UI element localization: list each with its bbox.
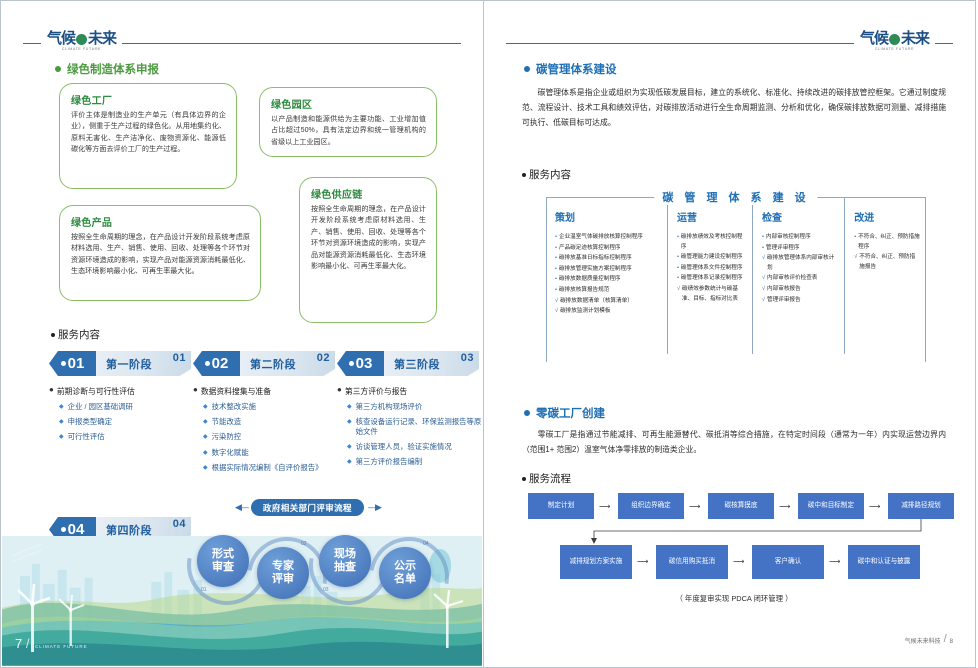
flow-node: 减排规划方案实施 xyxy=(560,545,632,579)
brochure-spread: 气候 未来 CLIMATE FUTURE 绿色制造体系申报 绿色工厂 评价主体是… xyxy=(0,0,978,668)
card-body: 按照全生命周期的理念，在产品设计开发阶段系统考虑原材料选用、生产、销售、使用、回… xyxy=(71,232,250,278)
flow-connector xyxy=(522,517,946,545)
bullet-icon xyxy=(524,66,530,72)
section-title-text: 零碳工厂创建 xyxy=(536,405,605,421)
marker-icon: • xyxy=(555,286,557,296)
marker-icon: √ xyxy=(555,297,558,307)
phase-label: 第三阶段 xyxy=(394,356,440,372)
diamond-icon: ◆ xyxy=(203,448,208,458)
slash-icon: / xyxy=(944,633,947,645)
diamond-icon: ◆ xyxy=(203,432,208,442)
diamond-icon: ◆ xyxy=(347,442,352,452)
marker-icon: • xyxy=(677,253,679,263)
left-page: 气候 未来 CLIMATE FUTURE 绿色制造体系申报 绿色工厂 评价主体是… xyxy=(0,0,484,668)
phase-lead-text: 第三方评价与报告 xyxy=(345,386,407,397)
list-item: ◆技术整改实施 xyxy=(203,402,335,412)
flow-node: 碳中和目标制定 xyxy=(798,493,864,519)
phase-label-wrap: 第二阶段 02 xyxy=(240,351,335,376)
flow-node: 减排路径规划 xyxy=(888,493,954,519)
phase-index: 03 xyxy=(461,352,474,364)
brand-name-part1: 气候 xyxy=(47,31,75,46)
list-item: ◆第三方机构现场评价 xyxy=(347,402,483,412)
marker-icon: • xyxy=(762,244,764,254)
flow-node: 碳核算摸底 xyxy=(708,493,774,519)
review-step-circle: 现场 抽查 xyxy=(319,535,371,587)
service-content-label: 服务内容 xyxy=(58,327,100,342)
diamond-icon: ◆ xyxy=(347,457,352,467)
marker-icon: • xyxy=(555,275,557,285)
marker-icon: • xyxy=(762,233,764,243)
carbon-system-table: 碳 管 理 体 系 建 设 策划 •企业温室气体碳排放核算控制程序 •产品碳足迹… xyxy=(546,189,926,354)
list-item: •管理评审程序 xyxy=(762,244,838,254)
diamond-icon: ◆ xyxy=(203,463,208,473)
brand-subtitle: CLIMATE FUTURE xyxy=(860,47,929,51)
phase-card-03: 03 第三阶段 03 ●第三方评价与报告 ◆第三方机构现场评价 ◆核查设备运行记… xyxy=(337,351,483,473)
card-title: 绿色园区 xyxy=(271,96,426,111)
phase-label-wrap: 第三阶段 03 xyxy=(384,351,479,376)
brand-subtitle: CLIMATE FUTURE xyxy=(47,47,116,51)
table-column-planning: 策划 •企业温室气体碳排放核算控制程序 •产品碳足迹核算控制程序 •碳排放基准日… xyxy=(546,197,667,354)
dot-icon xyxy=(522,477,526,481)
marker-icon: • xyxy=(555,233,557,243)
phase-index: 04 xyxy=(173,518,186,530)
phase-lead-text: 数据资料搜集与准备 xyxy=(201,386,271,397)
list-item: •碳管理体系文件控制程序 xyxy=(677,264,746,274)
phase-number-text: 02 xyxy=(212,355,229,372)
card-body: 评价主体是制造业的生产单元（有具体边界的企业），侧重于生产过程的绿色化。从用地集… xyxy=(71,110,226,156)
column-header: 运营 xyxy=(677,209,746,224)
card-title: 绿色供应链 xyxy=(311,186,426,201)
list-item: √不符合、纠正、预防措施报告 xyxy=(854,253,920,272)
list-item: •企业温室气体碳排放核算控制程序 xyxy=(555,233,661,243)
phase-tag: 01 第一阶段 01 xyxy=(49,351,191,376)
list-item: ◆节能改造 xyxy=(203,417,335,427)
dot-icon xyxy=(61,527,66,532)
list-item: √碳绩效参数统计与碳基准、目标、指标对比表 xyxy=(677,285,746,304)
marker-icon: • xyxy=(854,233,856,252)
step-index: 02 xyxy=(301,541,307,547)
dot-icon: ● xyxy=(49,386,54,397)
marker-icon: √ xyxy=(762,285,765,295)
card-body: 按照全生命周期的理念，在产品设计开发阶段系统考虑原材料选用、生产、销售、使用、回… xyxy=(311,204,426,273)
section-title-green-manufacturing: 绿色制造体系申报 xyxy=(55,61,159,77)
list-item: ◆申报类型确定 xyxy=(59,417,191,427)
phase-lead-text: 前期诊断与可行性评估 xyxy=(57,386,135,397)
list-item: ◆访谈管理人员，验证实施情况 xyxy=(347,442,483,452)
list-item: ◆数字化赋能 xyxy=(203,448,335,458)
marker-icon: • xyxy=(677,233,679,252)
list-item: ◆核查设备运行记录、环保监测报告等原始文件 xyxy=(347,417,483,437)
flow-node: 客户确认 xyxy=(752,545,824,579)
card-green-factory: 绿色工厂 评价主体是制造业的生产单元（有具体边界的企业），侧重于生产过程的绿色化… xyxy=(59,83,237,189)
diamond-icon: ◆ xyxy=(59,402,64,412)
footer-brand-right: 气候未来科技 xyxy=(905,636,941,645)
flow-node: 制定计划 xyxy=(528,493,594,519)
list-item: √碳排放管理体系内部审核计划 xyxy=(762,254,838,273)
phase-lead: ●前期诊断与可行性评估 xyxy=(49,386,191,397)
list-item: •碳排放数据质量控制程序 xyxy=(555,275,661,285)
list-item: ◆第三方评价报告编制 xyxy=(347,457,483,467)
diamond-icon: ◆ xyxy=(347,402,352,412)
arrow-icon: ⟶ xyxy=(637,558,648,566)
list-item: ◆污染防控 xyxy=(203,432,335,442)
carbon-management-paragraph: 碳管理体系是指企业或组织为实现低碳发展目标，建立的系统化、标准化、持续改进的碳排… xyxy=(522,85,946,131)
service-content-heading-right: 服务内容 xyxy=(522,167,571,182)
marker-icon: √ xyxy=(677,285,680,304)
brand-name-part2: 未来 xyxy=(901,31,929,46)
list-item: •碳排放基准日标指标控制程序 xyxy=(555,254,661,264)
page-number-left: 7 / xyxy=(15,636,29,651)
dot-icon: ● xyxy=(337,386,342,397)
table-body: 策划 •企业温室气体碳排放核算控制程序 •产品碳足迹核算控制程序 •碳排放基准日… xyxy=(546,197,926,354)
phase-lead: ●第三方评价与报告 xyxy=(337,386,483,397)
phase-tag: 02 第二阶段 02 xyxy=(193,351,335,376)
brand-name-part2: 未来 xyxy=(88,31,116,46)
phase-index: 01 xyxy=(173,352,186,364)
arrow-icon: ⟶ xyxy=(829,558,840,566)
list-item: √碳排放数据清单（核算清单） xyxy=(555,297,661,307)
dot-icon: ● xyxy=(193,386,198,397)
list-item: •碳排放绩效及考核控制程序 xyxy=(677,233,746,252)
marker-icon: √ xyxy=(762,296,765,306)
column-list: •企业温室气体碳排放核算控制程序 •产品碳足迹核算控制程序 •碳排放基准日标指标… xyxy=(555,233,661,317)
phase-number: 01 xyxy=(49,351,96,376)
card-green-park: 绿色园区 以产品制造和能源供给为主要功能、工业增加值占比超过50%，具有法定边界… xyxy=(259,87,437,157)
zero-carbon-paragraph: 零碳工厂是指通过节能减排、可再生能源替代、碳抵消等综合措施，在特定时间段（通常为… xyxy=(522,427,946,457)
globe-icon xyxy=(889,34,900,45)
section-title-text: 绿色制造体系申报 xyxy=(67,61,159,77)
step-index: 01 xyxy=(201,587,207,593)
list-item: •产品碳足迹核算控制程序 xyxy=(555,244,661,254)
phase-item-list: ●前期诊断与可行性评估 ◆企业 / 园区基础调研 ◆申报类型确定 ◆可行性评估 xyxy=(49,386,191,443)
list-item: •碳排放核算报告规范 xyxy=(555,286,661,296)
column-header: 策划 xyxy=(555,209,661,224)
arrow-icon: ⟶ xyxy=(599,503,610,511)
card-green-supply-chain: 绿色供应链 按照全生命周期的理念，在产品设计开发阶段系统考虑原材料选用、生产、销… xyxy=(299,177,437,323)
list-item: •内部审核控制程序 xyxy=(762,233,838,243)
flow-node: 组织边界确定 xyxy=(618,493,684,519)
phase-card-02: 02 第二阶段 02 ●数据资料搜集与准备 ◆技术整改实施 ◆节能改造 ◆污染防… xyxy=(193,351,335,478)
dot-icon xyxy=(349,361,354,366)
arrow-icon: ⟶ xyxy=(733,558,744,566)
card-body: 以产品制造和能源供给为主要功能、工业增加值占比超过50%，具有法定边界和统一管理… xyxy=(271,114,426,148)
phase-tag: 03 第三阶段 03 xyxy=(337,351,479,376)
arrow-icon: ⟶ xyxy=(869,503,880,511)
diamond-icon: ◆ xyxy=(203,402,208,412)
phase-number-text: 01 xyxy=(68,355,85,372)
list-item: ◆可行性评估 xyxy=(59,432,191,442)
list-item: •碳排放管理实施方案控制程序 xyxy=(555,265,661,275)
phase-number: 03 xyxy=(337,351,384,376)
column-list: •碳排放绩效及考核控制程序 •碳管理能力建设控制程序 •碳管理体系文件控制程序 … xyxy=(677,233,746,304)
brand-name-part1: 气候 xyxy=(860,31,888,46)
phase-lead: ●数据资料搜集与准备 xyxy=(193,386,335,397)
list-item: ◆企业 / 园区基础调研 xyxy=(59,402,191,412)
table-column-improvement: 改进 •不符合、纠正、预防措施程序 √不符合、纠正、预防措施报告 xyxy=(844,197,926,354)
dot-icon xyxy=(61,361,66,366)
slash-icon: / xyxy=(22,636,29,651)
dot-icon xyxy=(205,361,210,366)
marker-icon: √ xyxy=(762,274,765,284)
wind-turbine-icon xyxy=(54,594,88,646)
right-page: 气候 未来 CLIMATE FUTURE 碳管理体系建设 碳管理体系是指企业或组… xyxy=(484,0,976,668)
phase-item-list: ●数据资料搜集与准备 ◆技术整改实施 ◆节能改造 ◆污染防控 ◆数字化赋能 ◆根… xyxy=(193,386,335,473)
service-flow-heading: 服务流程 xyxy=(522,471,571,486)
government-review-ribbon: ◀— 政府相关部门评审流程 —▶ xyxy=(235,499,380,516)
brand-logo: 气候 未来 CLIMATE FUTURE xyxy=(854,31,935,51)
footer-brand-left: CLIMATE FUTURE xyxy=(35,644,88,649)
review-step-circle: 专家 评审 xyxy=(257,547,309,599)
card-green-product: 绿色产品 按照全生命周期的理念，在产品设计开发阶段系统考虑原材料选用、生产、销售… xyxy=(59,205,261,301)
page-number-right: 气候未来科技 / 8 xyxy=(905,633,953,645)
diamond-icon: ◆ xyxy=(203,417,208,427)
review-ribbon-label: 政府相关部门评审流程 xyxy=(251,499,364,516)
column-header: 检查 xyxy=(762,209,838,224)
page-number-text: 8 xyxy=(950,639,953,645)
marker-icon: √ xyxy=(555,307,558,317)
phase-item-list: ●第三方评价与报告 ◆第三方机构现场评价 ◆核查设备运行记录、环保监测报告等原始… xyxy=(337,386,483,468)
column-list: •内部审核控制程序 •管理评审程序 √碳排放管理体系内部审核计划 √内部审核评价… xyxy=(762,233,838,305)
diamond-icon: ◆ xyxy=(59,432,64,442)
section-title-carbon-management: 碳管理体系建设 xyxy=(524,61,617,77)
marker-icon: • xyxy=(555,265,557,275)
marker-icon: • xyxy=(555,244,557,254)
bullet-icon xyxy=(524,410,530,416)
diamond-icon: ◆ xyxy=(59,417,64,427)
card-title: 绿色产品 xyxy=(71,214,250,229)
arrow-icon: ⟶ xyxy=(689,503,700,511)
card-title: 绿色工厂 xyxy=(71,92,226,107)
step-index: 03 xyxy=(323,587,329,593)
phase-index: 02 xyxy=(317,352,330,364)
list-item: •不符合、纠正、预防措施程序 xyxy=(854,233,920,252)
right-page-header: 气候 未来 CLIMATE FUTURE xyxy=(506,31,953,55)
phase-card-01: 01 第一阶段 01 ●前期诊断与可行性评估 ◆企业 / 园区基础调研 ◆申报类… xyxy=(49,351,191,448)
list-item: √管理评审报告 xyxy=(762,296,838,306)
flow-node: 碳信用购买抵消 xyxy=(656,545,728,579)
list-item: ◆根据实际情况编制《自评价报告》 xyxy=(203,463,335,473)
phase-label: 第一阶段 xyxy=(106,356,152,372)
marker-icon: • xyxy=(677,274,679,284)
table-title: 碳 管 理 体 系 建 设 xyxy=(654,189,817,205)
section-title-text: 碳管理体系建设 xyxy=(536,61,617,77)
column-list: •不符合、纠正、预防措施程序 √不符合、纠正、预防措施报告 xyxy=(854,233,920,272)
list-item: √碳排放监测计划模板 xyxy=(555,307,661,317)
flow-note: （ 年度复审实现 PDCA 闭环管理 ） xyxy=(522,593,946,604)
phase-label-wrap: 第一阶段 01 xyxy=(96,351,191,376)
review-step-04: 公示 名单 04 xyxy=(379,547,449,617)
marker-icon: • xyxy=(555,254,557,264)
bullet-icon xyxy=(55,66,61,72)
diamond-icon: ◆ xyxy=(347,417,352,437)
service-flow-diagram: 制定计划 ⟶ 组织边界确定 ⟶ 碳核算摸底 ⟶ 碳中和目标制定 ⟶ 减排路径规划… xyxy=(522,493,946,623)
service-content-heading-left: 服务内容 xyxy=(51,327,100,342)
marker-icon: √ xyxy=(762,254,765,273)
arrow-left-icon: ◀— xyxy=(235,502,247,513)
marker-icon: • xyxy=(677,264,679,274)
list-item: √内部审核评价检查表 xyxy=(762,274,838,284)
dot-icon xyxy=(522,173,526,177)
list-item: •碳管理体系记录控制程序 xyxy=(677,274,746,284)
phase-label: 第二阶段 xyxy=(250,356,296,372)
left-page-header: 气候 未来 CLIMATE FUTURE xyxy=(23,31,461,55)
table-column-operation: 运营 •碳排放绩效及考核控制程序 •碳管理能力建设控制程序 •碳管理体系文件控制… xyxy=(667,197,752,354)
dot-icon xyxy=(51,333,55,337)
table-column-check: 检查 •内部审核控制程序 •管理评审程序 √碳排放管理体系内部审核计划 √内部审… xyxy=(752,197,844,354)
phase-number: 02 xyxy=(193,351,240,376)
column-header: 改进 xyxy=(854,209,920,224)
service-content-label: 服务内容 xyxy=(529,167,571,182)
list-item: •碳管理能力建设控制程序 xyxy=(677,253,746,263)
brand-logo: 气候 未来 CLIMATE FUTURE xyxy=(41,31,122,51)
list-item: √内部审核报告 xyxy=(762,285,838,295)
section-title-zero-carbon-factory: 零碳工厂创建 xyxy=(524,405,605,421)
review-step-circle: 形式 审查 xyxy=(197,535,249,587)
step-index: 04 xyxy=(423,541,429,547)
flow-node: 碳中和认证与披露 xyxy=(848,545,920,579)
arrow-right-icon: —▶ xyxy=(368,502,380,513)
phase-number-text: 03 xyxy=(356,355,373,372)
marker-icon: √ xyxy=(854,253,857,272)
globe-icon xyxy=(76,34,87,45)
review-step-circle: 公示 名单 xyxy=(379,547,431,599)
service-flow-label: 服务流程 xyxy=(529,471,571,486)
arrow-icon: ⟶ xyxy=(779,503,790,511)
